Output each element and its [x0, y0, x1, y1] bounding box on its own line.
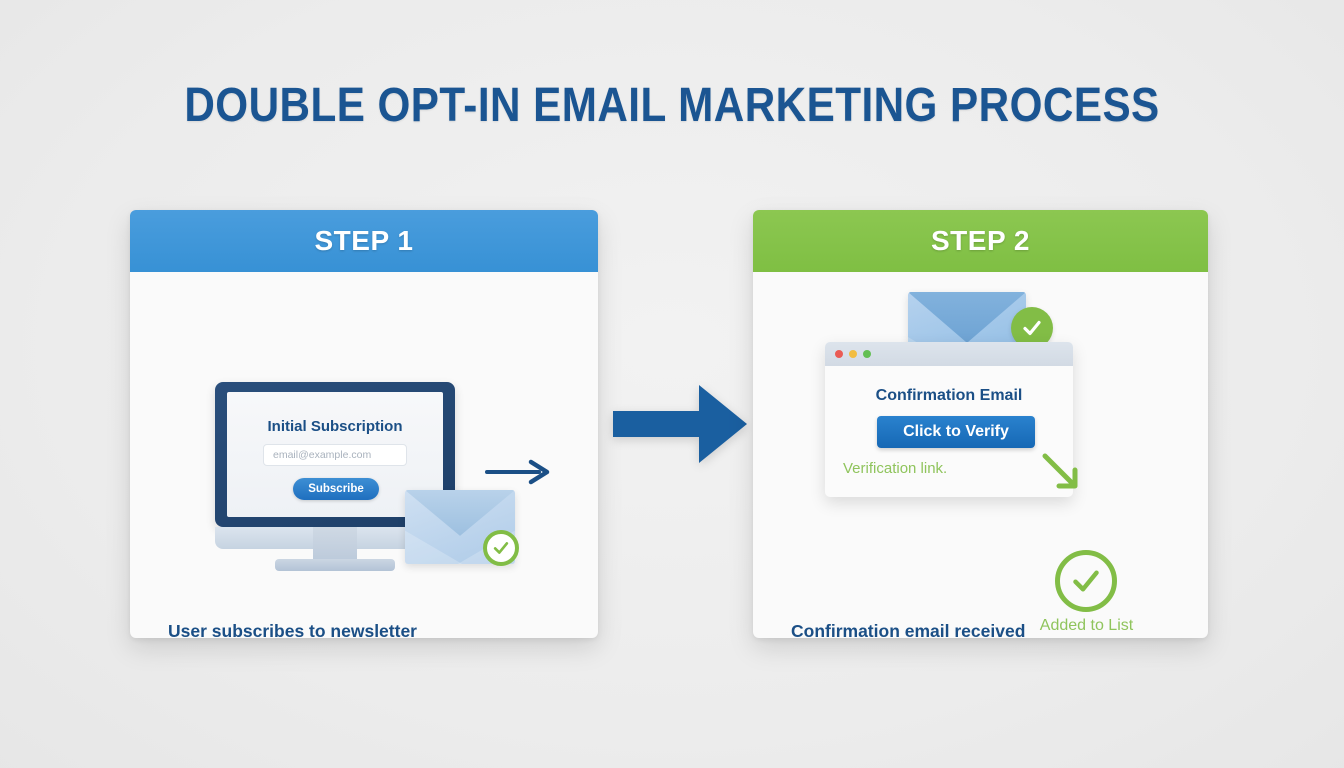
arrow-right-icon	[485, 457, 555, 487]
checkmark-glyph	[491, 538, 511, 558]
check-circle-icon	[1055, 550, 1117, 612]
step-1-card: STEP 1 Initial Subscription email@exampl…	[130, 210, 598, 638]
step-1-header: STEP 1	[130, 210, 598, 272]
verification-link-note: Verification link.	[843, 460, 947, 477]
monitor-stand-base	[275, 559, 395, 571]
block-arrow-right-icon	[613, 385, 747, 463]
window-title-bar	[825, 342, 1073, 366]
page-title: DOUBLE OPT-IN EMAIL MARKETING PROCESS	[81, 78, 1264, 133]
subscription-form-title: Initial Subscription	[227, 418, 443, 435]
maximize-dot-icon[interactable]	[863, 350, 871, 358]
subscribe-button[interactable]: Subscribe	[293, 478, 379, 500]
envelope-flap	[405, 490, 515, 536]
step-2-caption: Confirmation email received with verifca…	[791, 620, 1025, 638]
confirmation-email-title: Confirmation Email	[825, 387, 1073, 405]
added-to-list-label: Added to List	[1009, 617, 1164, 635]
checkmark-glyph	[1020, 316, 1044, 340]
email-input[interactable]: email@example.com	[263, 444, 407, 466]
close-dot-icon[interactable]	[835, 350, 843, 358]
minimize-dot-icon[interactable]	[849, 350, 857, 358]
step-2-header: STEP 2	[753, 210, 1208, 272]
step-2-card: STEP 2 Confirmation Email Click to V	[753, 210, 1208, 638]
step-1-body: Initial Subscription email@example.com S…	[130, 272, 598, 638]
step-1-caption: User subscribes to newsletter with email…	[168, 620, 417, 638]
check-circle-icon	[483, 530, 519, 566]
envelope-flap	[908, 292, 1026, 343]
monitor-stand-neck	[313, 527, 357, 561]
checkmark-glyph	[1068, 563, 1104, 599]
confirmation-email-window: Confirmation Email Click to Verify Verif…	[825, 342, 1073, 497]
arrow-down-right-icon	[1039, 450, 1087, 498]
click-to-verify-button[interactable]: Click to Verify	[877, 416, 1035, 448]
step-2-body: Confirmation Email Click to Verify Verif…	[753, 272, 1208, 638]
